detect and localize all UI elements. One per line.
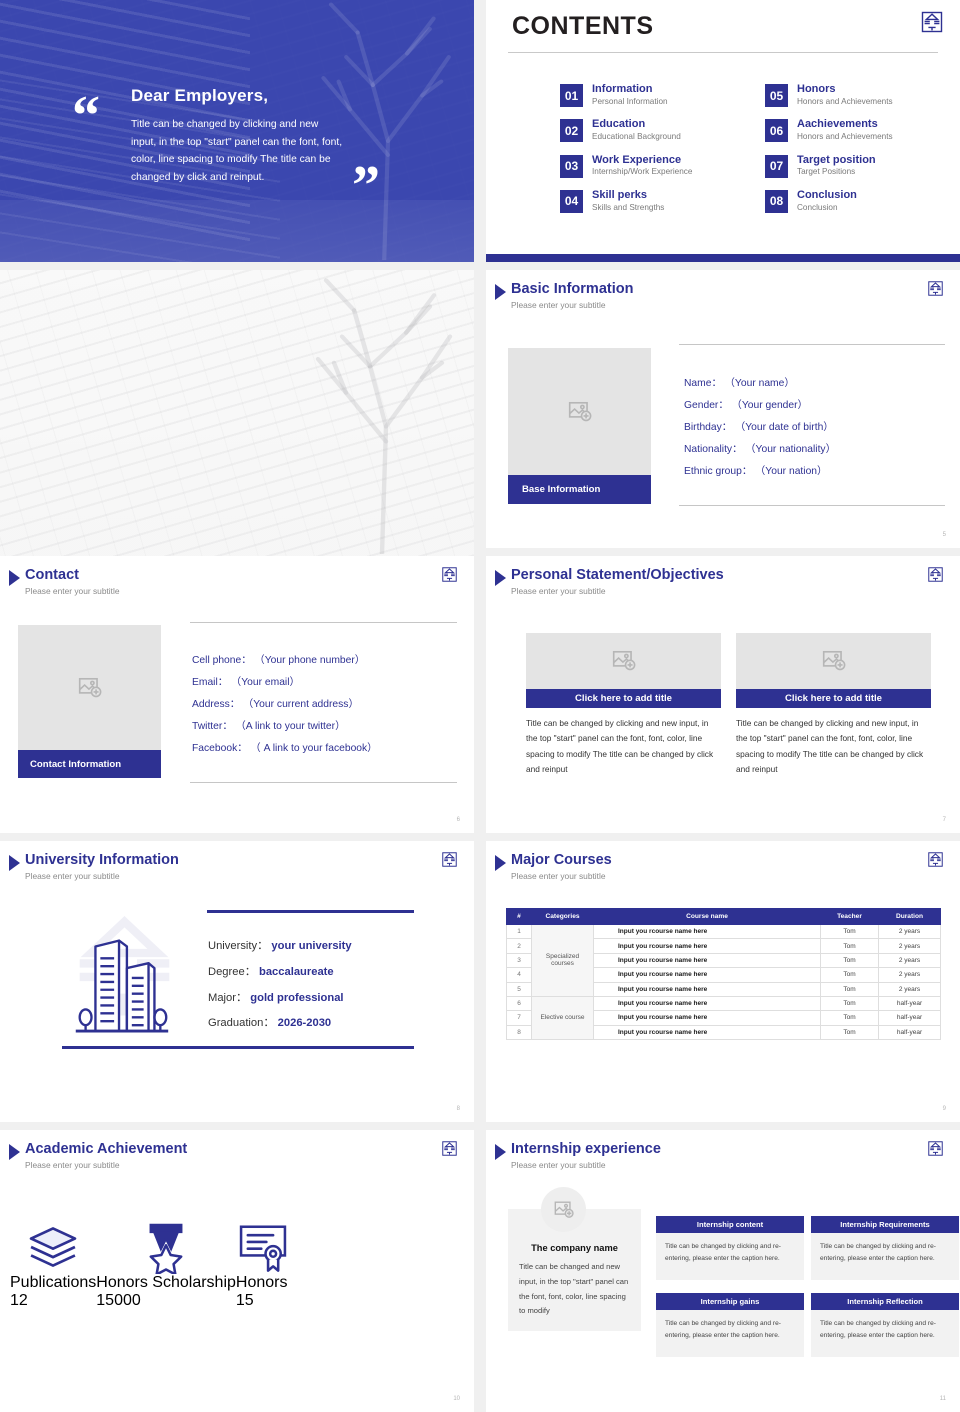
page-number: 11: [940, 1396, 946, 1402]
toc-subtitle: Internship/Work Experience: [592, 167, 692, 178]
info-value[interactable]: （Your name）: [725, 378, 795, 389]
achievement-stats: Publications 12 Honors Scholarship 15000…: [10, 1220, 464, 1310]
page-subtitle: Please enter your subtitle: [511, 300, 606, 310]
header-arrow-icon: [495, 1144, 506, 1160]
info-label: Cell phone：: [192, 655, 252, 666]
photo-caption-label: Base Information: [522, 484, 600, 495]
contents-divider-line: [508, 52, 938, 53]
info-value[interactable]: （Your gender）: [732, 400, 808, 411]
cell-category: Elective course: [532, 996, 594, 1039]
university-fields: University： your university Degree： bacc…: [208, 934, 352, 1037]
university-label: University：: [208, 940, 268, 952]
major-courses-table: # Categories Course name Teacher Duratio…: [506, 908, 941, 1040]
cell-index: 1: [507, 925, 532, 939]
cover-body-text: Title can be changed by clicking and new…: [131, 116, 343, 187]
info-value[interactable]: （Your nationality）: [745, 444, 836, 455]
info-label: Birthday：: [684, 422, 732, 433]
university-row: University： your university: [208, 934, 352, 960]
internship-card-requirements: Internship Requirements Title can be cha…: [811, 1216, 959, 1280]
university-label: Major：: [208, 992, 247, 1004]
info-label: Twitter：: [192, 721, 233, 732]
toc-item-06[interactable]: 06 Aachievements Honors and Achievements: [765, 118, 940, 142]
info-label: Address：: [192, 699, 240, 710]
stat-label: Honors Scholarship: [96, 1274, 236, 1292]
slide-internship-experience: Internship experience Please enter your …: [486, 1130, 960, 1412]
photo-placeholder[interactable]: [736, 633, 931, 689]
header-arrow-icon: [495, 570, 506, 586]
cell-teacher[interactable]: Tom: [821, 982, 879, 996]
university-label: Degree：: [208, 966, 256, 978]
stat-value: 15: [236, 1292, 290, 1310]
cell-duration[interactable]: 2 years: [879, 925, 941, 939]
page-title: Major Courses: [511, 852, 612, 868]
cell-teacher[interactable]: Tom: [821, 1011, 879, 1025]
quote-open-icon: “: [72, 88, 99, 144]
stat-honors-scholarship: Honors Scholarship 15000: [96, 1220, 236, 1310]
internship-card-content: Internship content Title can be changed …: [656, 1216, 804, 1280]
image-placeholder-icon: [611, 648, 637, 674]
toc-number: 08: [765, 190, 788, 213]
toc-item-01[interactable]: 01 Information Personal Information: [560, 83, 735, 107]
brand-logo-icon: [927, 566, 944, 583]
toc-number: 04: [560, 190, 583, 213]
brand-logo-icon: [927, 851, 944, 868]
internship-card-body: Title can be changed by clicking and re-…: [656, 1310, 804, 1357]
internship-card-reflection: Internship Reflection Title can be chang…: [811, 1293, 959, 1357]
cell-course[interactable]: Input you rcourse name here: [594, 996, 821, 1010]
info-row: Gender： （Your gender）: [684, 395, 945, 417]
toc-title: Honors: [797, 83, 893, 96]
page-title: Internship experience: [511, 1141, 661, 1157]
photo-placeholder[interactable]: [18, 625, 161, 750]
university-value[interactable]: your university: [271, 940, 351, 952]
company-photo-placeholder[interactable]: [541, 1187, 586, 1232]
cell-index: 5: [507, 982, 532, 996]
brand-logo-icon: [927, 1140, 944, 1157]
cell-index: 2: [507, 939, 532, 953]
photo-caption: Contact Information: [18, 750, 161, 778]
cell-duration[interactable]: 2 years: [879, 982, 941, 996]
cell-index: 7: [507, 1011, 532, 1025]
cell-duration[interactable]: 2 years: [879, 939, 941, 953]
toc-subtitle: Educational Background: [592, 132, 681, 143]
page-number: 9: [943, 1106, 946, 1112]
info-row: Cell phone： （Your phone number）: [192, 650, 457, 672]
contents-list: 01 Information Personal Information 05 H…: [560, 83, 940, 213]
toc-number: 06: [765, 119, 788, 142]
contents-heading: CONTENTS: [512, 12, 654, 41]
col-course-name: Course name: [594, 909, 821, 925]
cell-course[interactable]: Input you rcourse name here: [594, 968, 821, 982]
statement-card: Click here to add title Title can be cha…: [736, 633, 931, 777]
page-subtitle: Please enter your subtitle: [511, 586, 606, 596]
col-teacher: Teacher: [821, 909, 879, 925]
cell-teacher[interactable]: Tom: [821, 953, 879, 967]
toc-subtitle: Target Positions: [797, 167, 876, 178]
toc-title: Education: [592, 118, 681, 131]
info-label: Ethnic group：: [684, 466, 752, 477]
slide-contents: CONTENTS 01 Information Personal Informa…: [486, 0, 960, 262]
page-title: Personal Statement/Objectives: [511, 567, 724, 583]
toc-title: Skill perks: [592, 189, 664, 202]
toc-number: 03: [560, 155, 583, 178]
toc-item-05[interactable]: 05 Honors Honors and Achievements: [765, 83, 940, 107]
cell-teacher[interactable]: Tom: [821, 968, 879, 982]
table-row[interactable]: 1 Specialized courses Input you rcourse …: [507, 925, 941, 939]
cell-duration[interactable]: half-year: [879, 996, 941, 1010]
university-label: Graduation：: [208, 1017, 275, 1029]
info-value[interactable]: （ A link to your facebook）: [250, 743, 377, 754]
toc-title: Work Experience: [592, 154, 692, 167]
col-duration: Duration: [879, 909, 941, 925]
toc-item-07[interactable]: 07 Target position Target Positions: [765, 154, 940, 178]
header-arrow-icon: [9, 1144, 20, 1160]
university-value[interactable]: gold professional: [250, 992, 343, 1004]
toc-title: Conclusion: [797, 189, 857, 202]
info-row: Nationality： （Your nationality）: [684, 439, 945, 461]
stat-honors: Honors 15: [236, 1220, 290, 1310]
cell-duration[interactable]: half-year: [879, 1011, 941, 1025]
university-top-rule: [207, 910, 414, 913]
toc-subtitle: Honors and Achievements: [797, 97, 893, 108]
cell-category: Specialized courses: [532, 925, 594, 997]
info-row: Ethnic group： （Your nation）: [684, 461, 945, 483]
toc-subtitle: Honors and Achievements: [797, 132, 893, 143]
header-arrow-icon: [9, 855, 20, 871]
info-label: Email：: [192, 677, 228, 688]
cell-course[interactable]: Input you rcourse name here: [594, 1011, 821, 1025]
internship-card-body: Title can be changed by clicking and re-…: [656, 1233, 804, 1280]
internship-company-card: The company name Title can be changed an…: [508, 1209, 641, 1331]
page-number: 7: [943, 817, 946, 823]
toc-title: Information: [592, 83, 668, 96]
info-row: Birthday： （Your date of birth）: [684, 417, 945, 439]
toc-number: 01: [560, 84, 583, 107]
image-placeholder-icon: [553, 1199, 575, 1221]
image-placeholder-icon: [821, 648, 847, 674]
brand-logo-icon: [927, 280, 944, 297]
info-row: Address： （Your current address）: [192, 694, 457, 716]
info-label: Facebook：: [192, 743, 248, 754]
page-number: 6: [457, 817, 460, 823]
slide-major-courses: Major Courses Please enter your subtitle…: [486, 841, 960, 1122]
cell-index: 6: [507, 996, 532, 1010]
internship-card-heading[interactable]: Internship Reflection: [811, 1293, 959, 1310]
cell-teacher[interactable]: Tom: [821, 939, 879, 953]
university-building-icon: [62, 911, 180, 1039]
university-value[interactable]: baccalaureate: [259, 966, 334, 978]
page-number: 10: [453, 1396, 460, 1402]
cover-title: Dear Employers,: [131, 86, 361, 106]
statement-card-caption[interactable]: Click here to add title: [736, 689, 931, 708]
university-row: Degree： baccalaureate: [208, 960, 352, 986]
page-subtitle: Please enter your subtitle: [25, 586, 120, 596]
brand-logo-icon: [441, 851, 458, 868]
statement-card-caption[interactable]: Click here to add title: [526, 689, 721, 708]
brand-logo-icon: [441, 1140, 458, 1157]
cell-course[interactable]: Input you rcourse name here: [594, 939, 821, 953]
toc-title: Aachievements: [797, 118, 893, 131]
header-arrow-icon: [495, 284, 506, 300]
university-bottom-rule: [62, 1046, 414, 1049]
toc-subtitle: Personal Information: [592, 97, 668, 108]
university-value[interactable]: 2026-2030: [278, 1017, 332, 1029]
contents-bottom-bar: [486, 254, 960, 262]
photo-placeholder[interactable]: [508, 348, 651, 475]
info-bottom-rule: [190, 782, 457, 783]
info-row: Name： （Your name）: [684, 373, 945, 395]
cell-teacher[interactable]: Tom: [821, 996, 879, 1010]
page-title: Academic Achievement: [25, 1141, 187, 1157]
divider-tree-icon: [266, 270, 466, 554]
info-value[interactable]: （A link to your twitter）: [236, 721, 346, 732]
slide-grid: “ ” Dear Employers, Title can be changed…: [0, 0, 960, 1400]
medal-icon: [139, 1220, 193, 1274]
slide-basic-information: Basic Information Please enter your subt…: [486, 270, 960, 548]
info-value[interactable]: （Your nation）: [755, 466, 827, 477]
page-number: 5: [943, 532, 946, 538]
cell-course[interactable]: Input you rcourse name here: [594, 1025, 821, 1039]
cell-course[interactable]: Input you rcourse name here: [594, 982, 821, 996]
info-value[interactable]: （Your date of birth）: [735, 422, 834, 433]
basic-info-list: Name： （Your name） Gender： （Your gender） …: [679, 344, 945, 506]
university-row: Major： gold professional: [208, 986, 352, 1012]
page-number: 8: [457, 1106, 460, 1112]
col-index: #: [507, 909, 532, 925]
page-title: Contact: [25, 567, 79, 583]
stat-value: 12: [10, 1292, 96, 1310]
info-value[interactable]: （Your phone number）: [254, 655, 365, 666]
header-arrow-icon: [9, 570, 20, 586]
cover-ground: [0, 200, 474, 262]
cell-index: 8: [507, 1025, 532, 1039]
cell-duration[interactable]: half-year: [879, 1025, 941, 1039]
internship-card-body: Title can be changed by clicking and re-…: [811, 1233, 959, 1280]
stat-publications: Publications 12: [10, 1220, 96, 1310]
toc-item-02[interactable]: 02 Education Educational Background: [560, 118, 735, 142]
info-row: Email： （Your email）: [192, 672, 457, 694]
info-label: Name：: [684, 378, 722, 389]
image-placeholder-icon: [567, 399, 593, 425]
internship-card-body: Title can be changed by clicking and re-…: [811, 1310, 959, 1357]
info-row: Twitter： （A link to your twitter）: [192, 716, 457, 738]
statement-card: Click here to add title Title can be cha…: [526, 633, 721, 777]
table-header-row: # Categories Course name Teacher Duratio…: [507, 909, 941, 925]
cell-course[interactable]: Input you rcourse name here: [594, 925, 821, 939]
image-placeholder-icon: [77, 675, 103, 701]
statement-card-body: Title can be changed by clicking and new…: [526, 716, 721, 777]
cell-teacher[interactable]: Tom: [821, 1025, 879, 1039]
info-bottom-rule: [679, 505, 945, 506]
cell-course[interactable]: Input you rcourse name here: [594, 953, 821, 967]
university-row: Graduation： 2026-2030: [208, 1011, 352, 1037]
info-label: Nationality：: [684, 444, 742, 455]
toc-number: 05: [765, 84, 788, 107]
cell-teacher[interactable]: Tom: [821, 925, 879, 939]
toc-number: 07: [765, 155, 788, 178]
certificate-icon: [236, 1220, 290, 1274]
slide-personal-statement: Personal Statement/Objectives Please ent…: [486, 556, 960, 833]
header-arrow-icon: [495, 855, 506, 871]
contact-info-list: Cell phone： （Your phone number） Email： （…: [190, 622, 457, 783]
info-value[interactable]: （Your current address）: [243, 699, 359, 710]
info-value[interactable]: （Your email）: [231, 677, 300, 688]
internship-card-heading[interactable]: Internship content: [656, 1216, 804, 1233]
statement-card-caption-label: Click here to add title: [526, 693, 721, 704]
internship-card-heading[interactable]: Internship gains: [656, 1293, 804, 1310]
slide-university-information: University Information Please enter your…: [0, 841, 474, 1122]
stat-label: Honors: [236, 1274, 290, 1292]
cell-index: 3: [507, 953, 532, 967]
slide-cover: “ ” Dear Employers, Title can be changed…: [0, 0, 474, 262]
photo-caption-label: Contact Information: [30, 759, 121, 770]
toc-subtitle: Conclusion: [797, 203, 857, 214]
toc-item-08[interactable]: 08 Conclusion Conclusion: [765, 189, 940, 213]
slide-academic-achievement: Academic Achievement Please enter your s…: [0, 1130, 474, 1412]
col-categories: Categories: [532, 909, 594, 925]
page-title: University Information: [25, 852, 179, 868]
photo-placeholder[interactable]: [526, 633, 721, 689]
info-label: Gender：: [684, 400, 729, 411]
toc-title: Target position: [797, 154, 876, 167]
page-subtitle: Please enter your subtitle: [511, 871, 606, 881]
brand-logo-icon: [441, 566, 458, 583]
info-row: Facebook： （ A link to your facebook）: [192, 738, 457, 760]
toc-item-03[interactable]: 03 Work Experience Internship/Work Exper…: [560, 154, 735, 178]
page-subtitle: Please enter your subtitle: [511, 1160, 606, 1170]
internship-card-heading[interactable]: Internship Requirements: [811, 1216, 959, 1233]
table-row[interactable]: 6 Elective course Input you rcourse name…: [507, 996, 941, 1010]
cell-duration[interactable]: 2 years: [879, 968, 941, 982]
books-icon: [26, 1220, 80, 1274]
page-subtitle: Please enter your subtitle: [25, 871, 120, 881]
company-body: Title can be changed and new input, in t…: [519, 1260, 630, 1319]
slide-contact: Contact Please enter your subtitle Conta…: [0, 556, 474, 833]
statement-card-body: Title can be changed by clicking and new…: [736, 716, 931, 777]
page-subtitle: Please enter your subtitle: [25, 1160, 120, 1170]
photo-caption: Base Information: [508, 475, 651, 504]
company-name[interactable]: The company name: [519, 1243, 630, 1253]
cell-duration[interactable]: 2 years: [879, 953, 941, 967]
toc-subtitle: Skills and Strengths: [592, 203, 664, 214]
internship-card-gains: Internship gains Title can be changed by…: [656, 1293, 804, 1357]
page-title: Basic Information: [511, 281, 633, 297]
stat-label: Publications: [10, 1274, 96, 1292]
toc-number: 02: [560, 119, 583, 142]
statement-card-caption-label: Click here to add title: [736, 693, 931, 704]
quote-close-icon: ”: [352, 158, 379, 214]
toc-item-04[interactable]: 04 Skill perks Skills and Strengths: [560, 189, 735, 213]
cell-index: 4: [507, 968, 532, 982]
brand-logo-icon: [920, 10, 944, 34]
stat-value: 15000: [96, 1292, 236, 1310]
